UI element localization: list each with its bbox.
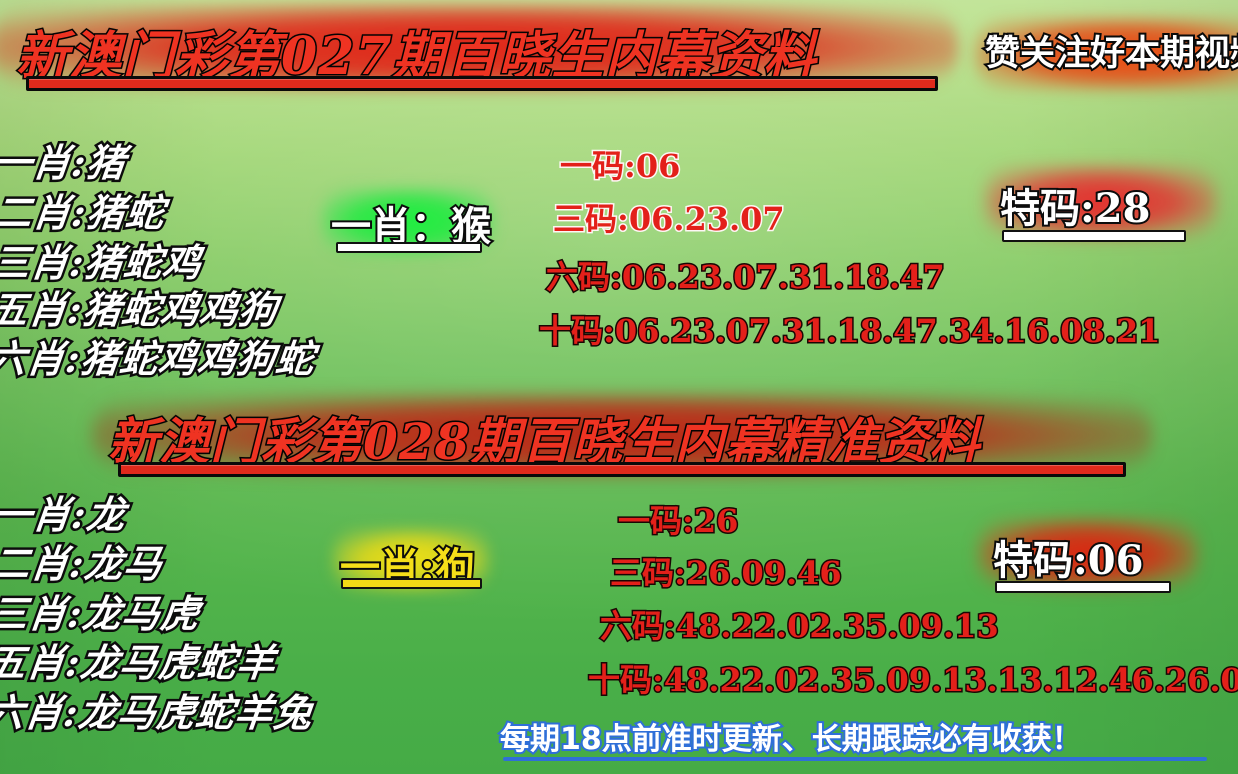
code-027-six: 六码:06.23.07.31.18.47 <box>546 252 945 298</box>
title-028-underline <box>118 462 1126 477</box>
code-027-one: 一码:06 <box>560 141 680 187</box>
code-027-ten: 十码:06.23.07.31.18.47.34.16.08.21 <box>539 306 1160 352</box>
zodiac-027-item-1: 一肖:猪 <box>0 132 129 187</box>
zodiac-028-item-2: 二肖:龙马 <box>0 533 166 588</box>
callout-028-underline <box>341 578 482 589</box>
zodiac-027-item-2: 二肖:猪蛇 <box>0 182 168 237</box>
lottery-poster: 新澳门彩第027期百晓生内幕资料 赞关注好本期视频 一肖:猪 二肖:猪蛇 三肖:… <box>0 0 1238 774</box>
zodiac-028-item-5: 五肖:龙马虎蛇羊 <box>0 632 279 687</box>
code-028-six: 六码:48.22.02.35.09.13 <box>600 601 999 647</box>
code-028-one: 一码:26 <box>618 496 738 542</box>
special-028-text: 特码:06 <box>993 528 1143 586</box>
promo-banner-text: 赞关注好本期视频 <box>985 25 1238 76</box>
footer-underline <box>503 757 1207 761</box>
zodiac-027-item-5: 五肖:猪蛇鸡鸡狗 <box>0 279 281 334</box>
special-027-underline <box>1002 230 1186 242</box>
footer-note-text: 每期18点前准时更新、长期跟踪必有收获！ <box>500 714 1082 758</box>
special-027-text: 特码:28 <box>1000 176 1150 234</box>
code-027-three: 三码:06.23.07 <box>553 194 785 240</box>
zodiac-028-item-6: 六肖:龙马虎蛇羊兔 <box>0 682 316 737</box>
zodiac-027-item-6: 六肖:猪蛇鸡鸡狗蛇 <box>0 328 318 383</box>
callout-027-underline <box>336 242 482 253</box>
special-028-underline <box>995 581 1171 593</box>
code-028-three: 三码:26.09.46 <box>610 548 842 594</box>
zodiac-028-item-1: 一肖:龙 <box>0 484 129 539</box>
title-027-underline <box>26 76 938 91</box>
zodiac-028-item-3: 三肖:龙马虎 <box>0 583 203 638</box>
code-028-ten: 十码:48.22.02.35.09.13.13.12.46.26.03 <box>588 655 1238 701</box>
